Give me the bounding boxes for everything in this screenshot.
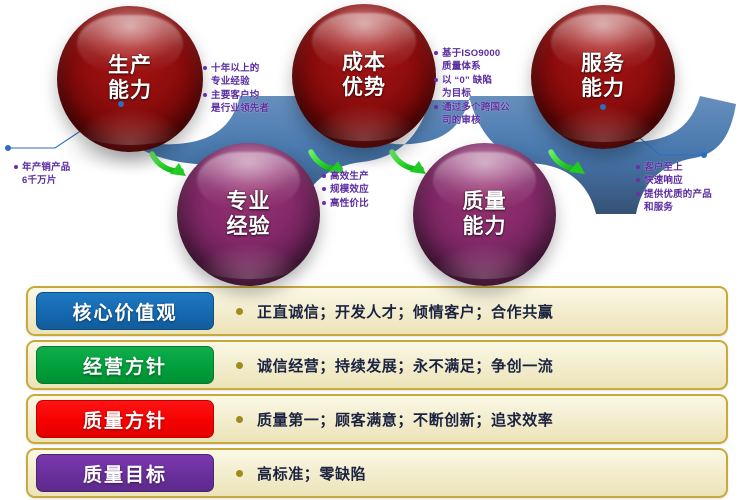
row-text-core-values: 正直诚信；开发人才；倾情客户；合作共赢 bbox=[257, 301, 553, 322]
bullet-icon bbox=[236, 416, 243, 423]
bullet-icon bbox=[236, 362, 243, 369]
sphere-production-label: 生产 能力 bbox=[108, 54, 152, 104]
note-service-item-0: 客户至上 bbox=[636, 161, 748, 174]
capability-diagram: 生产 能力 成本 优势 服务 能力 专业 经验 质量 能力 年产销产品 6千万片… bbox=[0, 0, 750, 278]
sphere-cost-advantage-label: 成本 优势 bbox=[342, 51, 386, 101]
note-quality-capability: 基于ISO9000 质量体系 以 “0” 缺陷 为目标 通过多个跨国公 司的审核 bbox=[434, 47, 550, 128]
sphere-cost-advantage[interactable]: 成本 优势 bbox=[292, 4, 436, 148]
note-service-item-2: 提供优质的产品 和服务 bbox=[636, 188, 748, 215]
note-experience-item-0: 十年以上的 专业经验 bbox=[203, 62, 311, 89]
sphere-service-label: 服务 能力 bbox=[581, 52, 625, 102]
anchor-dot-service-end bbox=[701, 152, 707, 158]
row-text-quality-objective: 高标准；零缺陷 bbox=[257, 463, 366, 484]
row-tag-core-values[interactable]: 核心价值观 bbox=[36, 292, 214, 330]
note-cost-item-2: 高性价比 bbox=[322, 197, 406, 210]
row-text-business-policy: 诚信经营；持续发展；永不满足；争创一流 bbox=[257, 355, 553, 376]
sphere-quality-capability-label: 质量 能力 bbox=[463, 190, 507, 240]
table-row-quality-policy[interactable]: 质量方针 质量第一；顾客满意；不断创新；追求效率 bbox=[26, 394, 728, 444]
note-production: 年产销产品 6千万片 bbox=[14, 161, 134, 188]
bullet-icon bbox=[236, 470, 243, 477]
note-quality-item-2: 通过多个跨国公 司的审核 bbox=[434, 101, 550, 128]
sphere-professional-experience-label: 专业 经验 bbox=[227, 190, 271, 240]
slide-canvas: 生产 能力 成本 优势 服务 能力 专业 经验 质量 能力 年产销产品 6千万片… bbox=[0, 0, 750, 500]
sphere-professional-experience[interactable]: 专业 经验 bbox=[177, 143, 320, 286]
row-tag-quality-objective[interactable]: 质量目标 bbox=[36, 454, 214, 492]
bullet-icon bbox=[236, 308, 243, 315]
table-row-quality-objective[interactable]: 质量目标 高标准；零缺陷 bbox=[26, 448, 728, 498]
sphere-service[interactable]: 服务 能力 bbox=[531, 5, 675, 149]
anchor-dot-production bbox=[118, 101, 124, 107]
note-experience-item-1: 主要客户均 是行业领先者 bbox=[203, 89, 311, 116]
row-tag-quality-policy[interactable]: 质量方针 bbox=[36, 400, 214, 438]
note-professional-experience: 十年以上的 专业经验 主要客户均 是行业领先者 bbox=[203, 62, 311, 116]
note-quality-item-1: 以 “0” 缺陷 为目标 bbox=[434, 74, 550, 101]
note-service-item-1: 快速响应 bbox=[636, 174, 748, 187]
sphere-production[interactable]: 生产 能力 bbox=[57, 6, 203, 152]
note-service: 客户至上 快速响应 提供优质的产品 和服务 bbox=[636, 161, 748, 215]
note-cost-advantage: 高效生产 规模效应 高性价比 bbox=[322, 170, 406, 210]
note-cost-item-1: 规模效应 bbox=[322, 183, 406, 196]
sphere-quality-capability[interactable]: 质量 能力 bbox=[413, 143, 556, 286]
anchor-dot-production-end bbox=[5, 145, 11, 151]
note-quality-item-0: 基于ISO9000 质量体系 bbox=[434, 47, 550, 74]
principles-table: 核心价值观 正直诚信；开发人才；倾情客户；合作共赢 经营方针 诚信经营；持续发展… bbox=[0, 278, 750, 500]
table-row-business-policy[interactable]: 经营方针 诚信经营；持续发展；永不满足；争创一流 bbox=[26, 340, 728, 390]
row-text-quality-policy: 质量第一；顾客满意；不断创新；追求效率 bbox=[257, 409, 553, 430]
table-row-core-values[interactable]: 核心价值观 正直诚信；开发人才；倾情客户；合作共赢 bbox=[26, 286, 728, 336]
note-cost-item-0: 高效生产 bbox=[322, 170, 406, 183]
row-tag-business-policy[interactable]: 经营方针 bbox=[36, 346, 214, 384]
anchor-dot-service bbox=[600, 104, 606, 110]
note-production-item-0: 年产销产品 6千万片 bbox=[14, 161, 134, 188]
